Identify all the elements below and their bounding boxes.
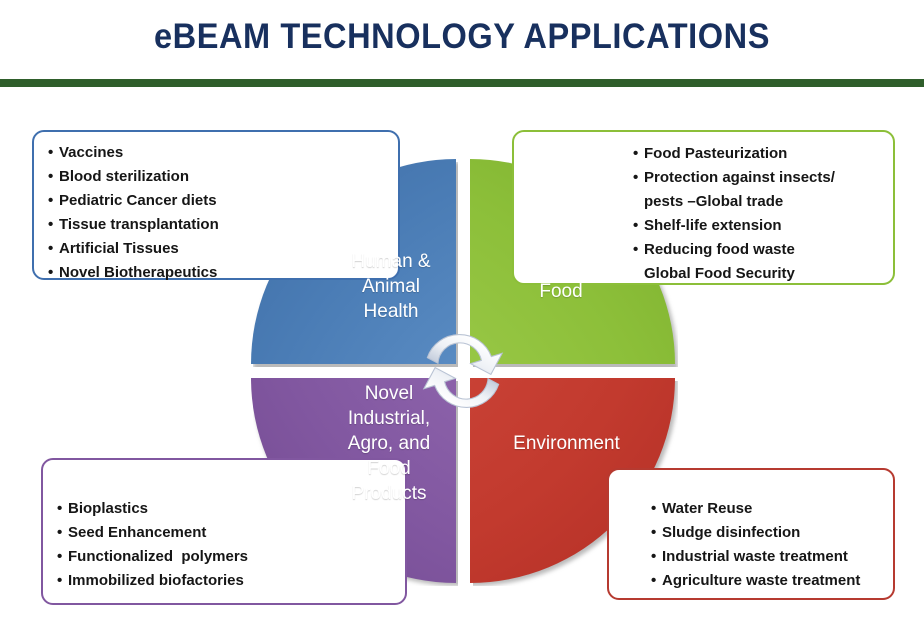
bullet-glyph: • [633,214,644,238]
bullet-glyph: • [633,142,644,166]
bullet-glyph: • [651,497,662,521]
quadrant-label-industrial: NovelIndustrial,Agro, andFoodProducts [319,381,459,506]
bullet-glyph: • [651,545,662,569]
bullet-glyph: • [48,141,59,165]
list-item: •Sludge disinfection [651,521,893,545]
title-divider-rule [0,79,924,87]
list-item: •Industrial waste treatment [651,545,893,569]
list-item: •Water Reuse [651,497,893,521]
bullet-glyph: • [57,569,68,593]
list-item: Global Food Security [633,262,893,286]
list-item: •Shelf-life extension [633,214,893,238]
list-item: •Functionalized polymers [57,545,405,569]
bullet-glyph: • [633,166,644,190]
list-item: •Seed Enhancement [57,521,405,545]
callout-list-food: •Food Pasteurization •Protection against… [514,132,893,286]
quadrant-label-health: Human &AnimalHealth [326,249,456,324]
bullet-glyph: • [48,213,59,237]
bullet-glyph: • [57,497,68,521]
callout-list-environment: •Water Reuse •Sludge disinfection •Indus… [609,470,893,593]
callout-food: •Food Pasteurization •Protection against… [512,130,895,285]
list-item: •Reducing food waste [633,238,893,262]
list-item: •Vaccines [48,141,398,165]
list-item: •Food Pasteurization [633,142,893,166]
list-item: •Agriculture waste treatment [651,569,893,593]
list-item: •Immobilized biofactories [57,569,405,593]
list-item: pests –Global trade [633,190,893,214]
bullet-spacer [633,190,644,214]
page-title: eBEAM TECHNOLOGY APPLICATIONS [32,17,891,57]
list-item: •Pediatric Cancer diets [48,189,398,213]
bullet-glyph: • [651,569,662,593]
page-header: eBEAM TECHNOLOGY APPLICATIONS [0,0,924,88]
bullet-glyph: • [48,261,59,285]
callout-environment: •Water Reuse •Sludge disinfection •Indus… [607,468,895,600]
list-item: •Tissue transplantation [48,213,398,237]
bullet-glyph: • [651,521,662,545]
bullet-glyph: • [48,165,59,189]
bullet-glyph: • [48,189,59,213]
quadrant-label-food: Food [496,279,626,304]
list-item: •Blood sterilization [48,165,398,189]
bullet-spacer [633,262,644,286]
bullet-glyph: • [48,237,59,261]
quadrant-label-environment: Environment [479,431,654,456]
bullet-glyph: • [633,238,644,262]
list-item: •Protection against insects/ [633,166,893,190]
bullet-glyph: • [57,521,68,545]
bullet-glyph: • [57,545,68,569]
